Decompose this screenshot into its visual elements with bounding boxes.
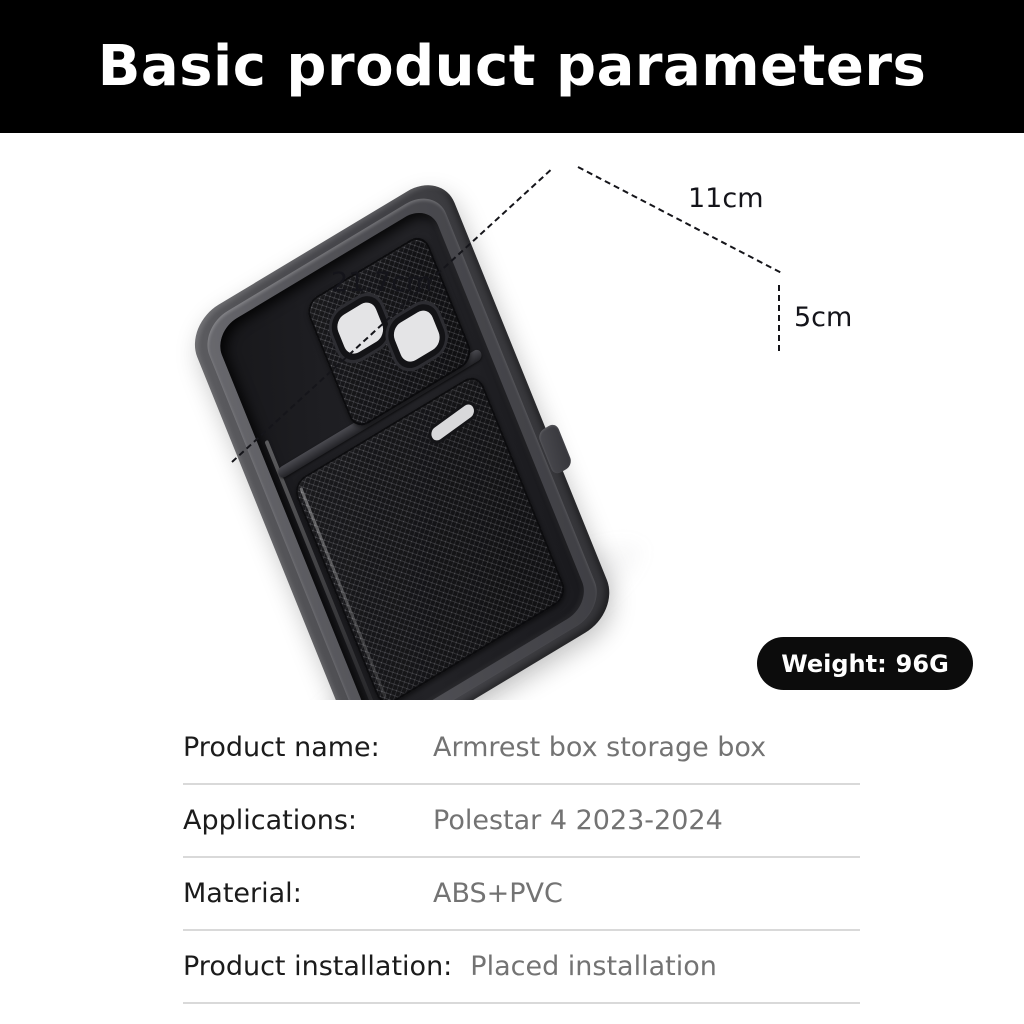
spec-label-product-installation: Product installation: <box>183 951 452 982</box>
table-row: Material: ABS+PVC <box>183 858 860 931</box>
product-image-stage: 21.7cm 11cm 5cm <box>0 133 1024 700</box>
weight-badge-label: Weight: <box>781 650 886 678</box>
spec-label-applications: Applications: <box>183 805 415 836</box>
table-row: Product installation: Placed installatio… <box>183 931 860 1004</box>
page-title: Basic product parameters <box>98 39 927 95</box>
spec-label-product-name: Product name: <box>183 732 415 763</box>
specification-table: Product name: Armrest box storage box Ap… <box>183 712 860 1004</box>
spec-value-applications: Polestar 4 2023-2024 <box>433 805 723 836</box>
dimension-line-height <box>778 285 780 351</box>
weight-badge: Weight: 96G <box>757 637 973 690</box>
table-row: Applications: Polestar 4 2023-2024 <box>183 785 860 858</box>
spec-label-material: Material: <box>183 878 415 909</box>
dimension-label-length: 21.7cm <box>331 267 432 298</box>
mat-cutout-right <box>390 306 443 366</box>
mat-slot-detail <box>429 402 476 443</box>
spec-value-material: ABS+PVC <box>433 878 563 909</box>
dimension-label-height: 5cm <box>794 302 852 333</box>
weight-badge-value: 96G <box>896 650 949 678</box>
table-row: Product name: Armrest box storage box <box>183 712 860 785</box>
spec-value-product-installation: Placed installation <box>470 951 717 982</box>
spec-value-product-name: Armrest box storage box <box>433 732 766 763</box>
header-banner: Basic product parameters <box>0 0 1024 133</box>
dimension-label-width: 11cm <box>688 183 764 214</box>
